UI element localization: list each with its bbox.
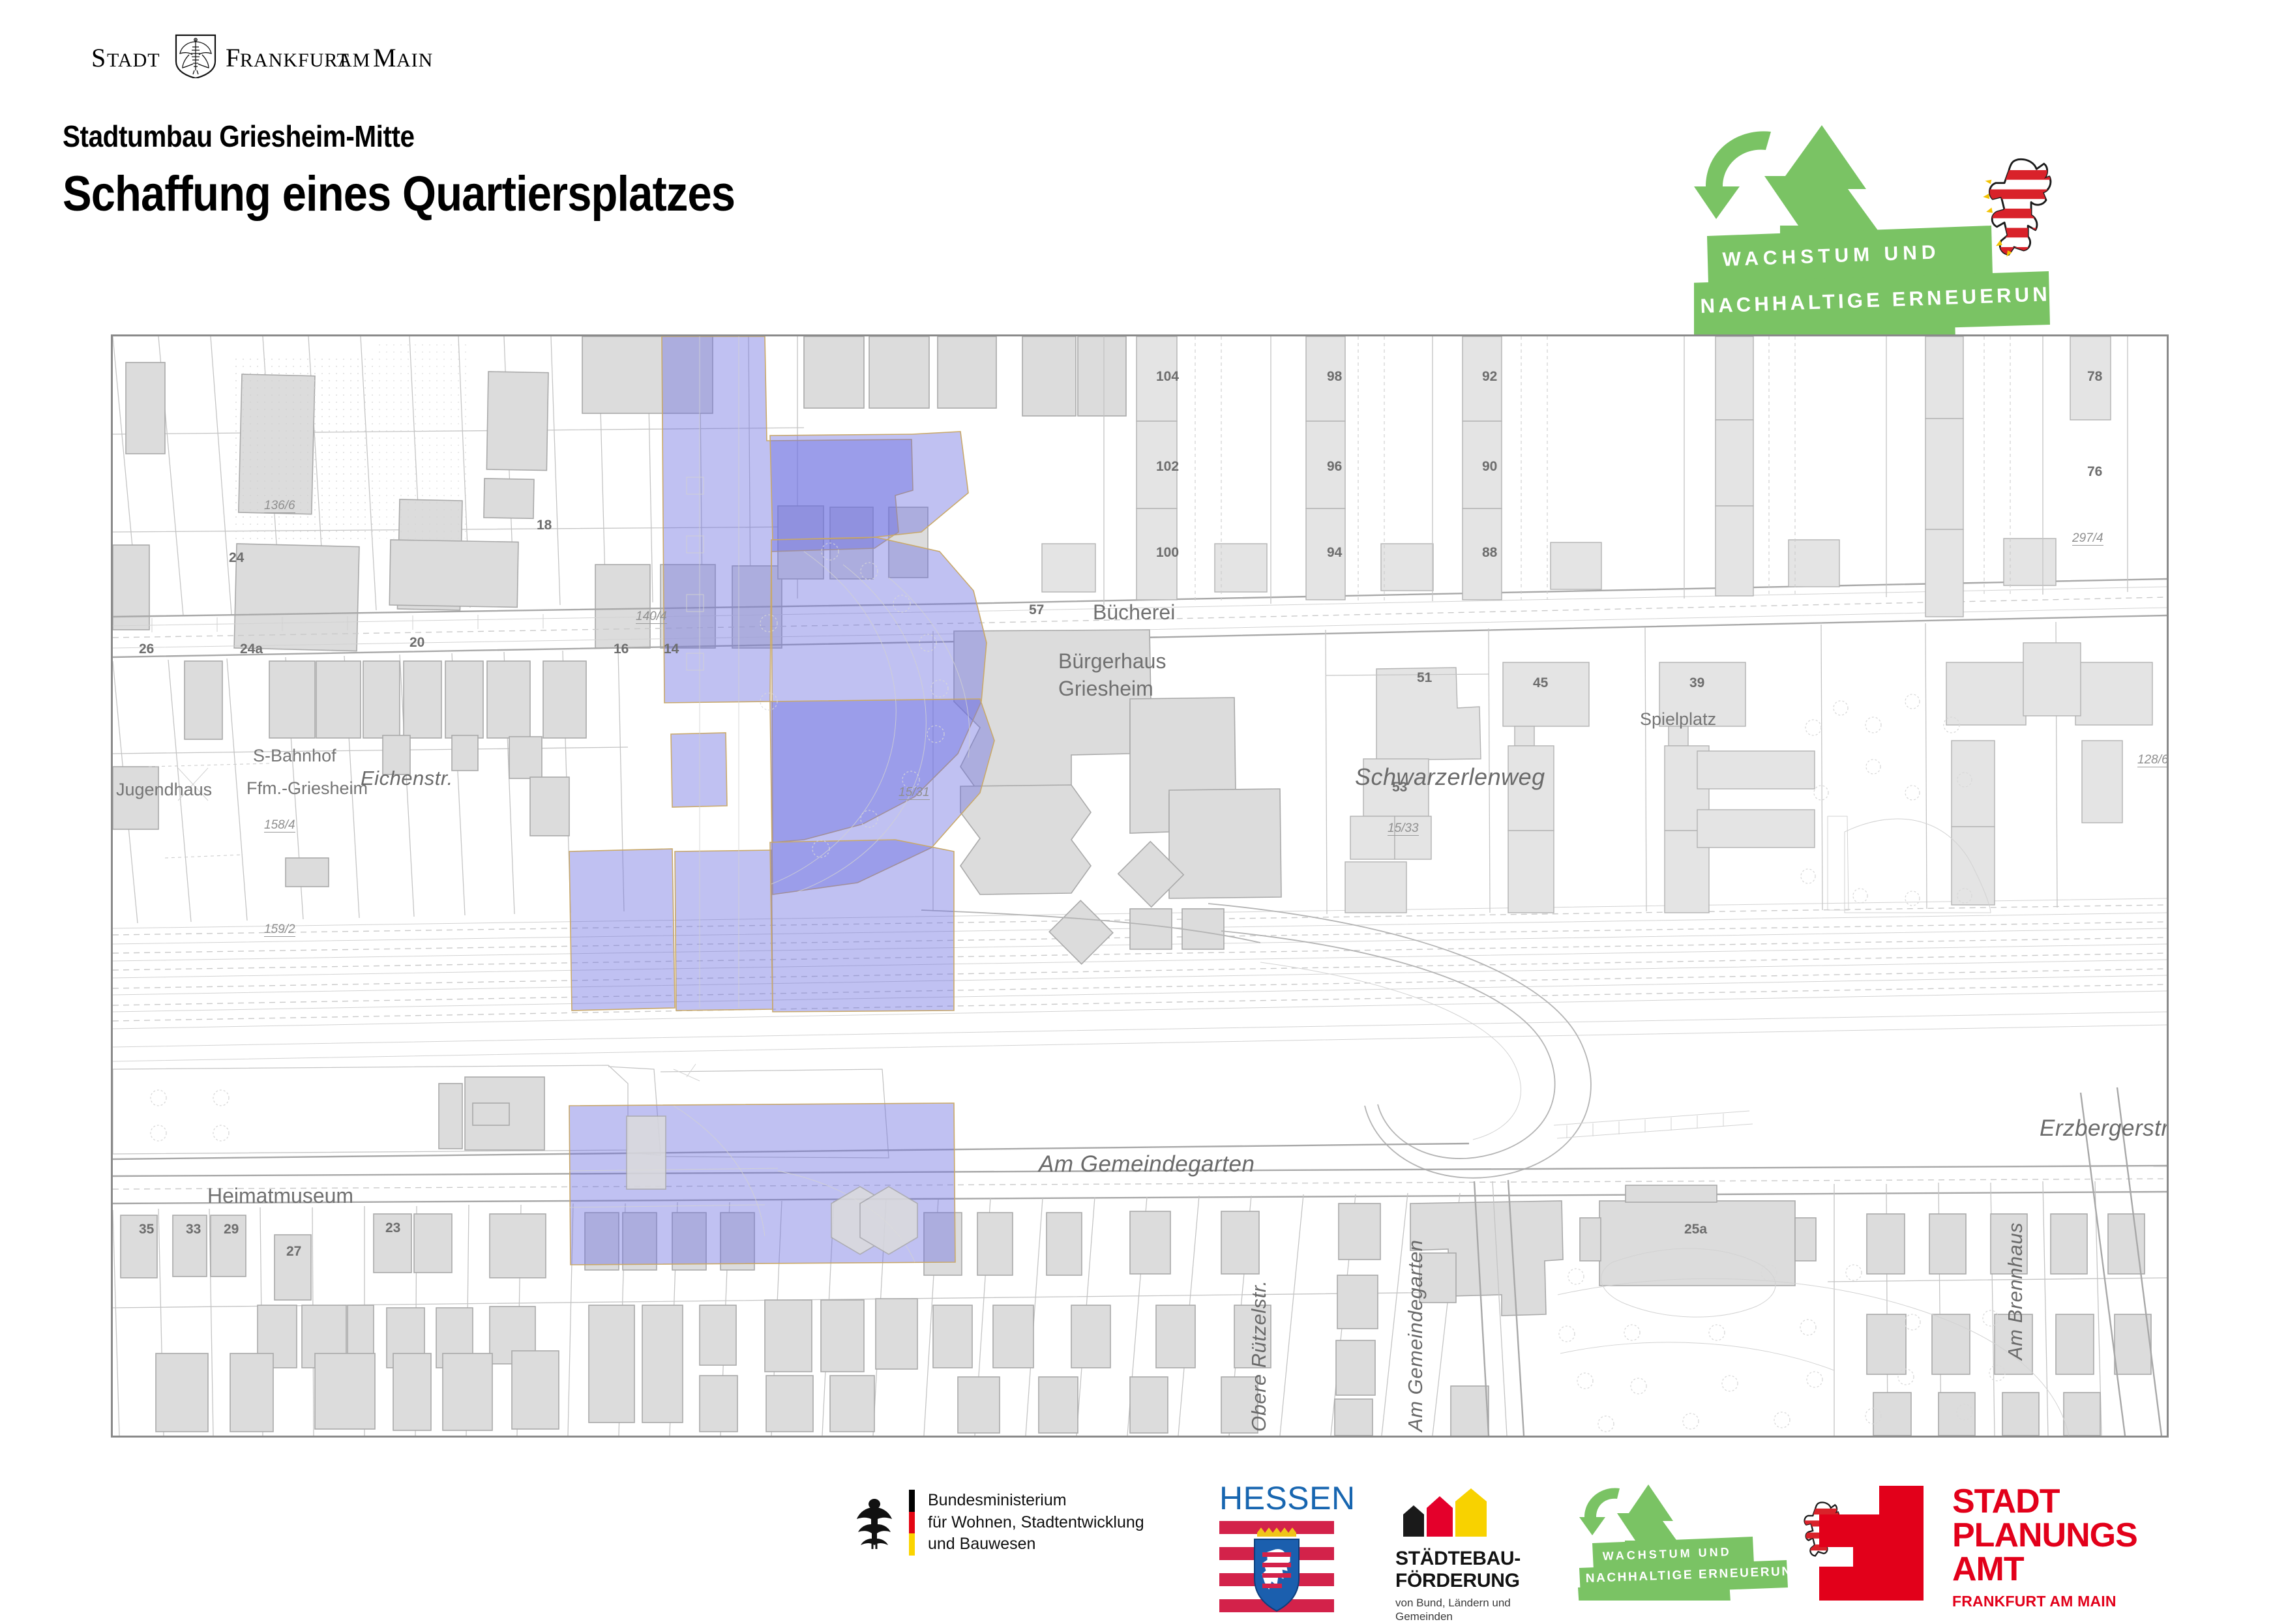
hessen-state-logo: HESSEN (1219, 1479, 1337, 1616)
stadtplanungsamt-logo: STADT PLANUNGS AMT FRANKFURT AM MAIN (1819, 1484, 2137, 1610)
hessen-coat-of-arms-icon (1219, 1521, 1334, 1612)
project-subtitle: Stadtumbau Griesheim-Mitte (63, 119, 735, 154)
svg-text:AM: AM (338, 50, 370, 71)
footer-logo-bar: Bundesministerium für Wohnen, Stadtentwi… (0, 1470, 2288, 1610)
bmwsb-line3: und Bauwesen (928, 1533, 1144, 1556)
svg-text:TADT: TADT (107, 50, 160, 71)
bmwsb-logo: Bundesministerium für Wohnen, Stadtentwi… (854, 1490, 1144, 1556)
spa-line1: STADT (1952, 1484, 2137, 1518)
spa-subline: FRANKFURT AM MAIN (1952, 1593, 2137, 1610)
svg-text:M: M (373, 43, 396, 72)
hessen-wordmark: HESSEN (1219, 1479, 1337, 1517)
spa-mark-icon (1819, 1484, 1924, 1601)
sbf-sub2: Gemeinden (1395, 1610, 1552, 1623)
city-of-frankfurt-logo: S TADT F RANKFURT AM M AIN (91, 31, 509, 78)
spa-line3: AMT (1952, 1552, 2137, 1586)
sbf-sub1: von Bund, Ländern und (1395, 1596, 1552, 1610)
spa-line2: PLANUNGS (1952, 1518, 2137, 1552)
sbf-line2: FÖRDERUNG (1395, 1570, 1552, 1592)
map-vector: .bldg{fill:#dcdcdc;stroke:#a9a9a9;stroke… (113, 336, 2167, 1436)
title-block: Stadtumbau Griesheim-Mitte Schaffung ein… (63, 119, 827, 222)
svg-text:F: F (226, 43, 240, 72)
svg-text:RANKFURT: RANKFURT (240, 50, 349, 71)
sbf-line1: STÄDTEBAU- (1395, 1548, 1552, 1570)
bundesadler-icon (854, 1496, 895, 1549)
map-canvas[interactable]: .bldg{fill:#dcdcdc;stroke:#a9a9a9;stroke… (113, 336, 2167, 1436)
page-title: Schaffung eines Quartiersplatzes (63, 166, 735, 222)
svg-text:AIN: AIN (396, 50, 433, 71)
three-houses-icon (1395, 1486, 1500, 1537)
german-flag-bar (909, 1490, 915, 1556)
cadastral-map[interactable]: .bldg{fill:#dcdcdc;stroke:#a9a9a9;stroke… (111, 334, 2169, 1438)
svg-text:S: S (91, 43, 106, 72)
staedtebaufoerderung-logo: STÄDTEBAU- FÖRDERUNG von Bund, Ländern u… (1395, 1486, 1552, 1624)
bmwsb-line1: Bundesministerium (928, 1490, 1144, 1512)
bmwsb-line2: für Wohnen, Stadtentwicklung (928, 1512, 1144, 1534)
program-logo-wachstum-top: WACHSTUM UND NACHHALTIGE ERNEUERUNG STÄD… (1694, 121, 2150, 369)
